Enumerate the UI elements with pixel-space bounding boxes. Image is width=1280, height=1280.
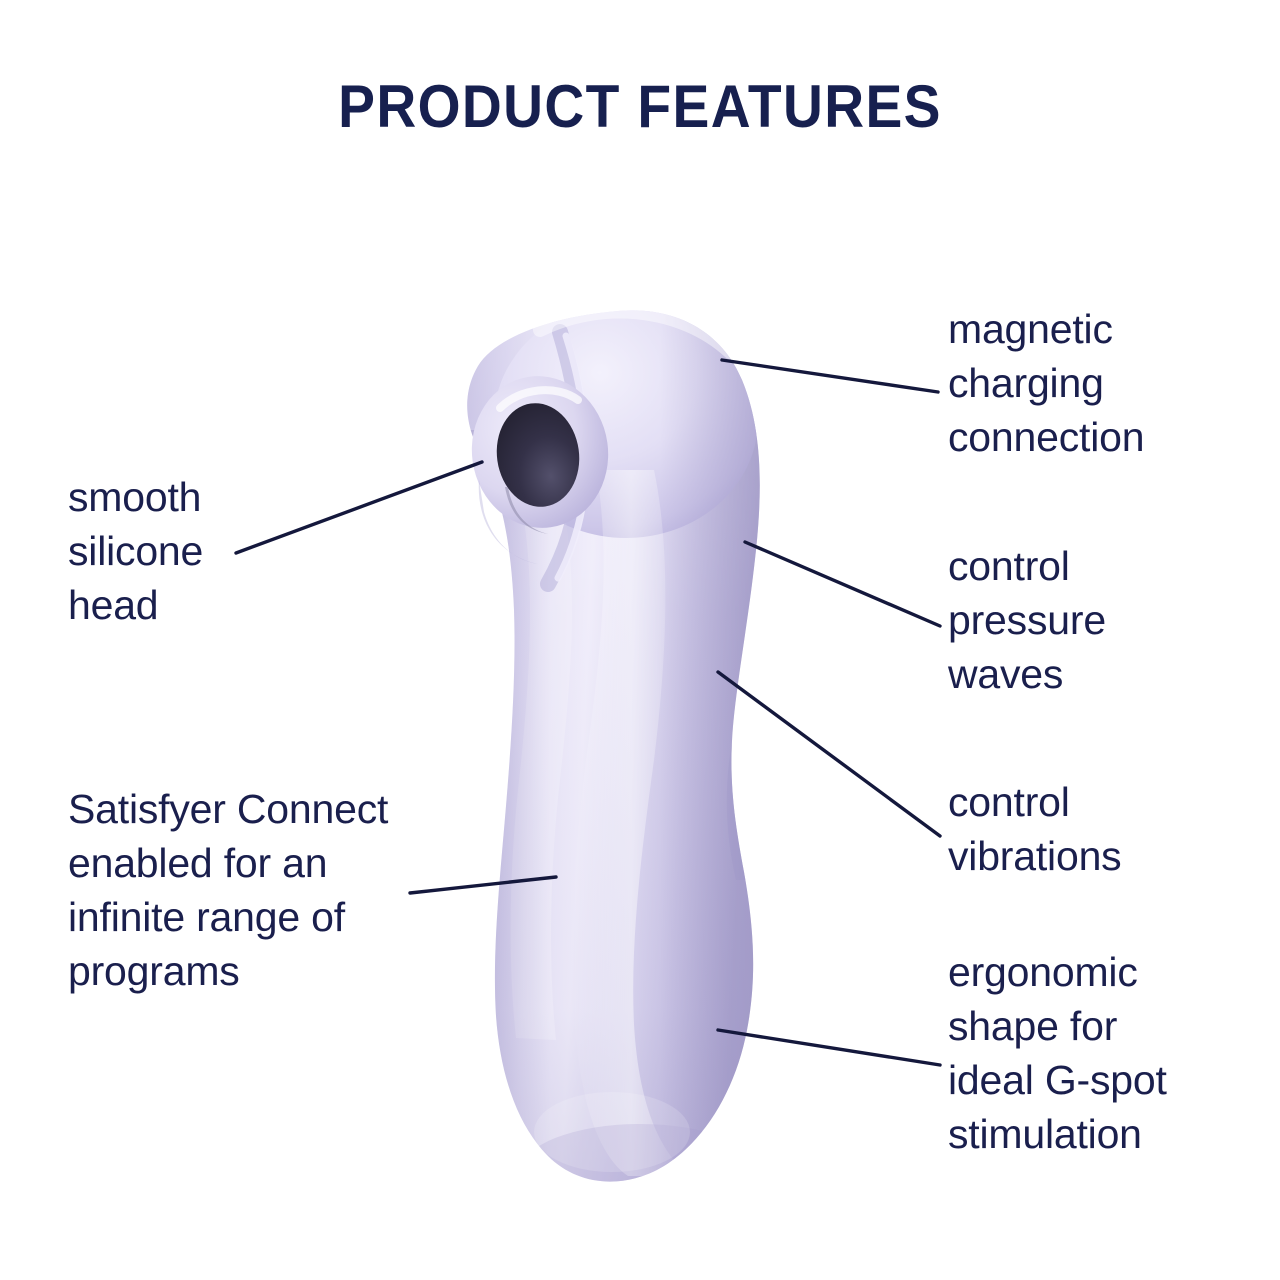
callout-smooth-silicone-head: smooth silicone head (68, 470, 368, 632)
product-features-infographic: PRODUCT FEATURES (0, 0, 1280, 1280)
callout-control-pressure-waves: control pressure waves (948, 539, 1248, 701)
callout-ergonomic-shape: ergonomic shape for ideal G-spot stimula… (948, 945, 1248, 1161)
leader-line-ergonomic (718, 1030, 940, 1065)
callout-control-vibrations: control vibrations (948, 775, 1248, 883)
callout-magnetic-charging-connection: magnetic charging connection (948, 302, 1248, 464)
callout-satisfyer-connect: Satisfyer Connect enabled for an infinit… (68, 782, 468, 998)
leader-line-pressure (745, 542, 940, 626)
product-body (440, 290, 800, 1220)
leader-line-vibrations (718, 672, 940, 836)
leader-line-magnetic (722, 360, 938, 392)
